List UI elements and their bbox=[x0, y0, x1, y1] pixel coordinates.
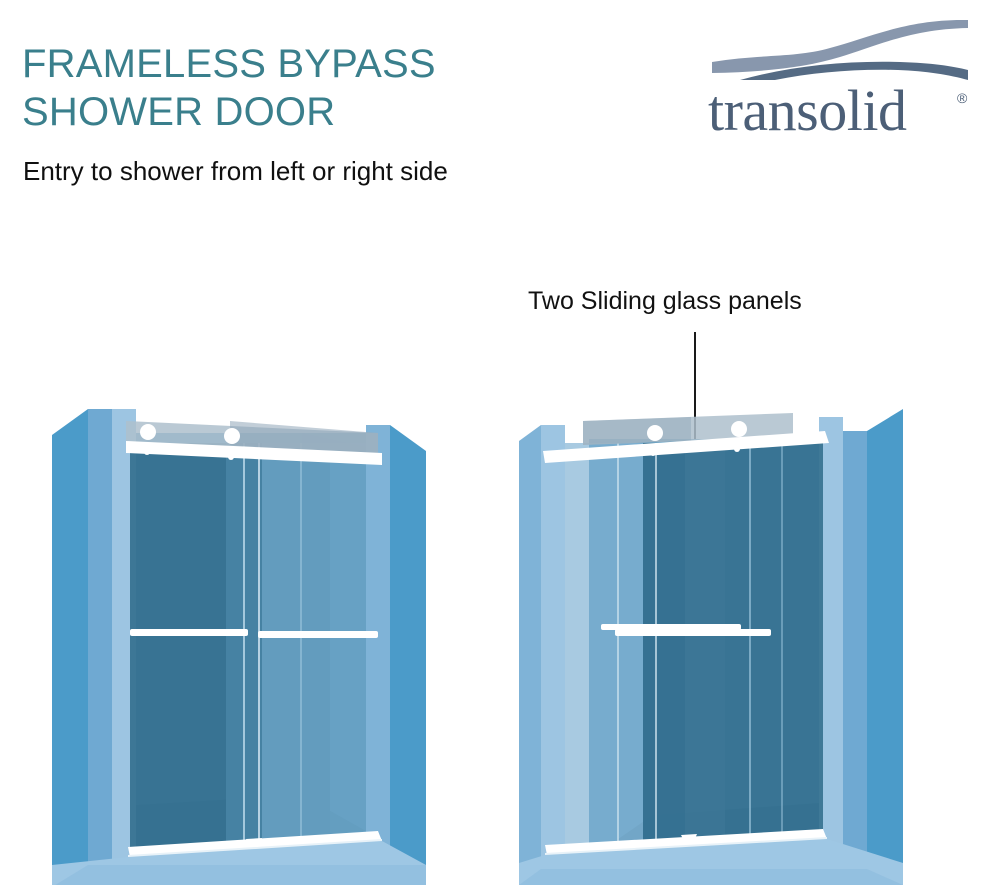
right-wall-return-2 bbox=[843, 431, 867, 885]
left-jamb-post-2 bbox=[541, 425, 565, 869]
page-subtitle: Entry to shower from left or right side bbox=[23, 155, 448, 187]
glass-edge-line-g bbox=[781, 443, 783, 853]
glass-edge-line-c bbox=[300, 443, 302, 848]
shower-curb-face bbox=[52, 865, 426, 885]
roller-cap-left bbox=[140, 424, 156, 440]
diagram-left-closed-door bbox=[30, 395, 450, 885]
handle-bar-right bbox=[258, 631, 378, 638]
shower-curb-face-2 bbox=[519, 869, 903, 885]
right-side-wall bbox=[390, 425, 426, 885]
roller-pin-right bbox=[228, 454, 234, 460]
roller-cap-left-2 bbox=[647, 425, 663, 441]
diagram-right-open-door bbox=[505, 395, 925, 885]
left-side-wall bbox=[52, 409, 88, 885]
left-side-wall-2 bbox=[519, 425, 541, 885]
header-rail-shadow-2 bbox=[583, 417, 691, 445]
right-side-wall-2 bbox=[867, 409, 903, 885]
page-title: FRAMELESS BYPASS SHOWER DOOR bbox=[22, 40, 582, 136]
callout-label-sliding-panels: Two Sliding glass panels bbox=[528, 286, 802, 316]
brand-logo: transolid ® bbox=[700, 18, 975, 146]
right-wall-return bbox=[366, 425, 390, 865]
roller-pin-left bbox=[144, 449, 150, 455]
transolid-wave-mark bbox=[700, 18, 975, 80]
glass-edge-line-e bbox=[655, 443, 657, 855]
logo-wordmark: transolid bbox=[708, 80, 906, 142]
roller-cap-right bbox=[224, 428, 240, 444]
glass-edge-line-d bbox=[617, 443, 619, 855]
handle-bar-left bbox=[130, 629, 248, 636]
roller-pin-right-2 bbox=[734, 446, 740, 452]
handle-bar-front bbox=[615, 629, 771, 636]
glass-edge-line-b bbox=[258, 443, 260, 851]
roller-cap-right-2 bbox=[731, 421, 747, 437]
glass-overlap-band-2 bbox=[643, 443, 685, 855]
logo-registered-trademark-icon: ® bbox=[957, 90, 967, 106]
left-wall-return bbox=[88, 409, 112, 875]
glass-edge-line-a bbox=[243, 443, 245, 851]
roller-pin-left-2 bbox=[650, 450, 656, 456]
shower-door-spec-sheet: FRAMELESS BYPASS SHOWER DOOR Entry to sh… bbox=[0, 0, 990, 896]
glass-edge-line-f bbox=[749, 443, 751, 853]
